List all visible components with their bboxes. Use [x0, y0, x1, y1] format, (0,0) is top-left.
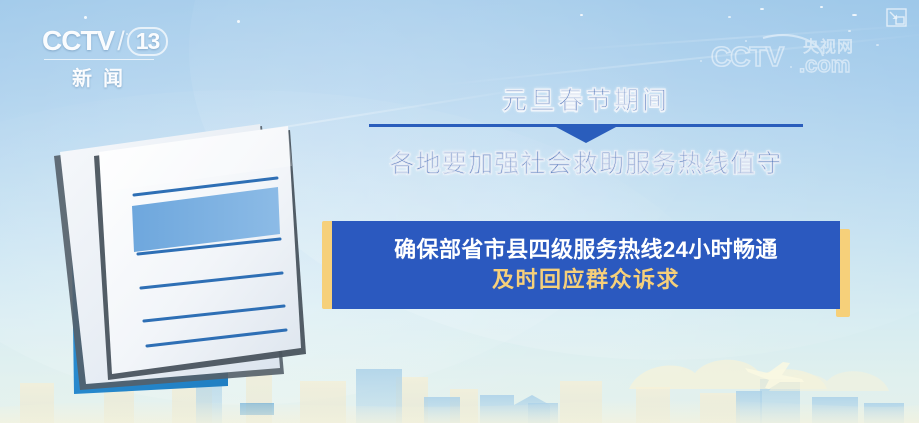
sparkle-dot	[760, 8, 764, 10]
stacked-documents-illustration	[42, 118, 322, 410]
sparkle-dot	[700, 60, 702, 62]
kicker-divider	[369, 124, 803, 127]
logo-main-row: CCTV / 13	[42, 26, 188, 56]
logo-divider-rule	[44, 59, 154, 60]
logo-channel-number: 13	[127, 27, 169, 56]
page-subheadline: 各地要加强社会救助服务热线值守	[322, 147, 850, 181]
sparkle-dot	[852, 14, 857, 16]
sparkle-dot	[820, 6, 823, 8]
page-title-kicker: 元旦春节期间	[322, 84, 850, 118]
callout-secondary-text: 及时回应群众诉求	[492, 266, 680, 294]
broadcast-graphic-stage: CCTV / 13 新闻 CCTV .com 央视网	[0, 0, 919, 423]
logo-separator: /	[117, 26, 124, 56]
cctv-com-watermark: CCTV .com 央视网	[711, 30, 889, 76]
sparkle-dot	[84, 16, 87, 19]
cctv13-channel-logo: CCTV / 13 新闻	[42, 26, 188, 88]
callout-primary-text: 确保部省市县四级服务热线24小时畅通	[394, 236, 778, 264]
chevron-down-icon	[556, 127, 616, 143]
airplane-icon	[742, 360, 808, 390]
logo-subtitle: 新闻	[42, 62, 188, 91]
watermark-latin: CCTV	[711, 41, 785, 72]
callout-box: 确保部省市县四级服务热线24小时畅通 及时回应群众诉求	[332, 221, 840, 309]
sparkle-dot	[237, 20, 240, 23]
headline-text-block: 元旦春节期间 各地要加强社会救助服务热线值守	[322, 84, 850, 181]
logo-network-name: CCTV	[42, 26, 114, 56]
sparkle-dot	[728, 16, 731, 18]
sparkle-dot	[580, 14, 583, 16]
restore-window-icon[interactable]	[886, 8, 907, 27]
watermark-chinese: 央视网	[803, 37, 854, 56]
callout-container: 确保部省市县四级服务热线24小时畅通 及时回应群众诉求	[320, 215, 852, 315]
